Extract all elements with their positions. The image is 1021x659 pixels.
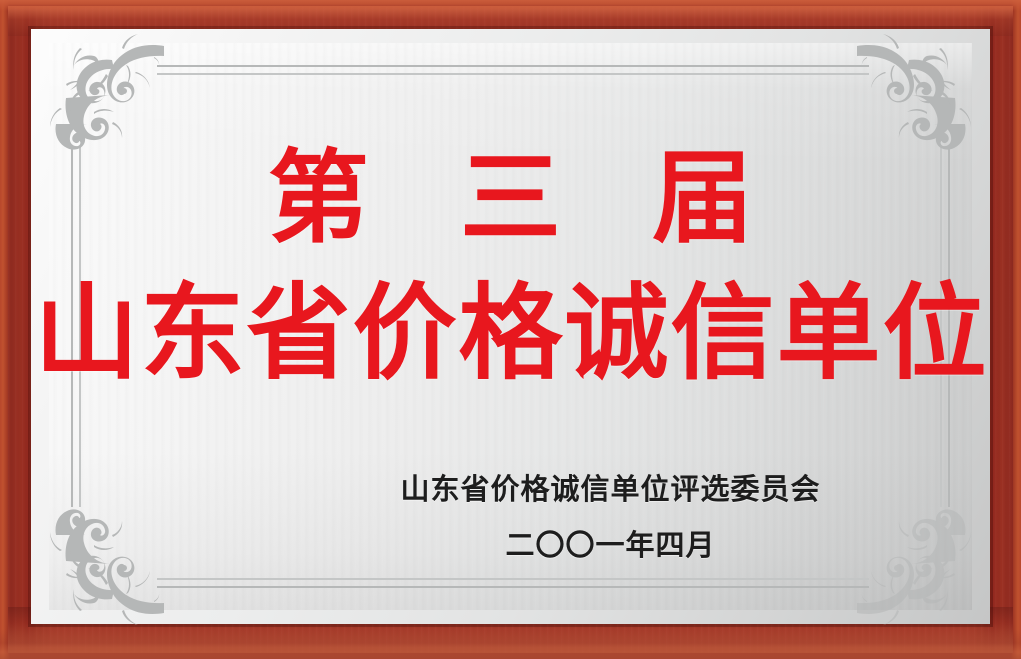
border-rule-bottom-inner xyxy=(157,578,869,580)
border-rule-left-outer xyxy=(71,146,73,507)
award-plaque-image: 第 三 届 山东省价格诚信单位 山东省价格诚信单位评选委员会 二〇〇一年四月 xyxy=(0,0,1021,659)
border-rule-right-inner xyxy=(940,146,942,507)
border-rule-bottom-outer xyxy=(157,586,869,588)
border-rule-left-inner xyxy=(79,146,81,507)
plaque-face-inner xyxy=(49,43,972,610)
border-rule-right-outer xyxy=(948,146,950,507)
plaque-sheen-overlay xyxy=(49,43,972,610)
border-rule-top-outer xyxy=(157,65,869,67)
plaque-face-outer xyxy=(31,29,990,624)
plaque-brushed-texture xyxy=(49,43,972,610)
border-rule-top-inner xyxy=(157,73,869,75)
